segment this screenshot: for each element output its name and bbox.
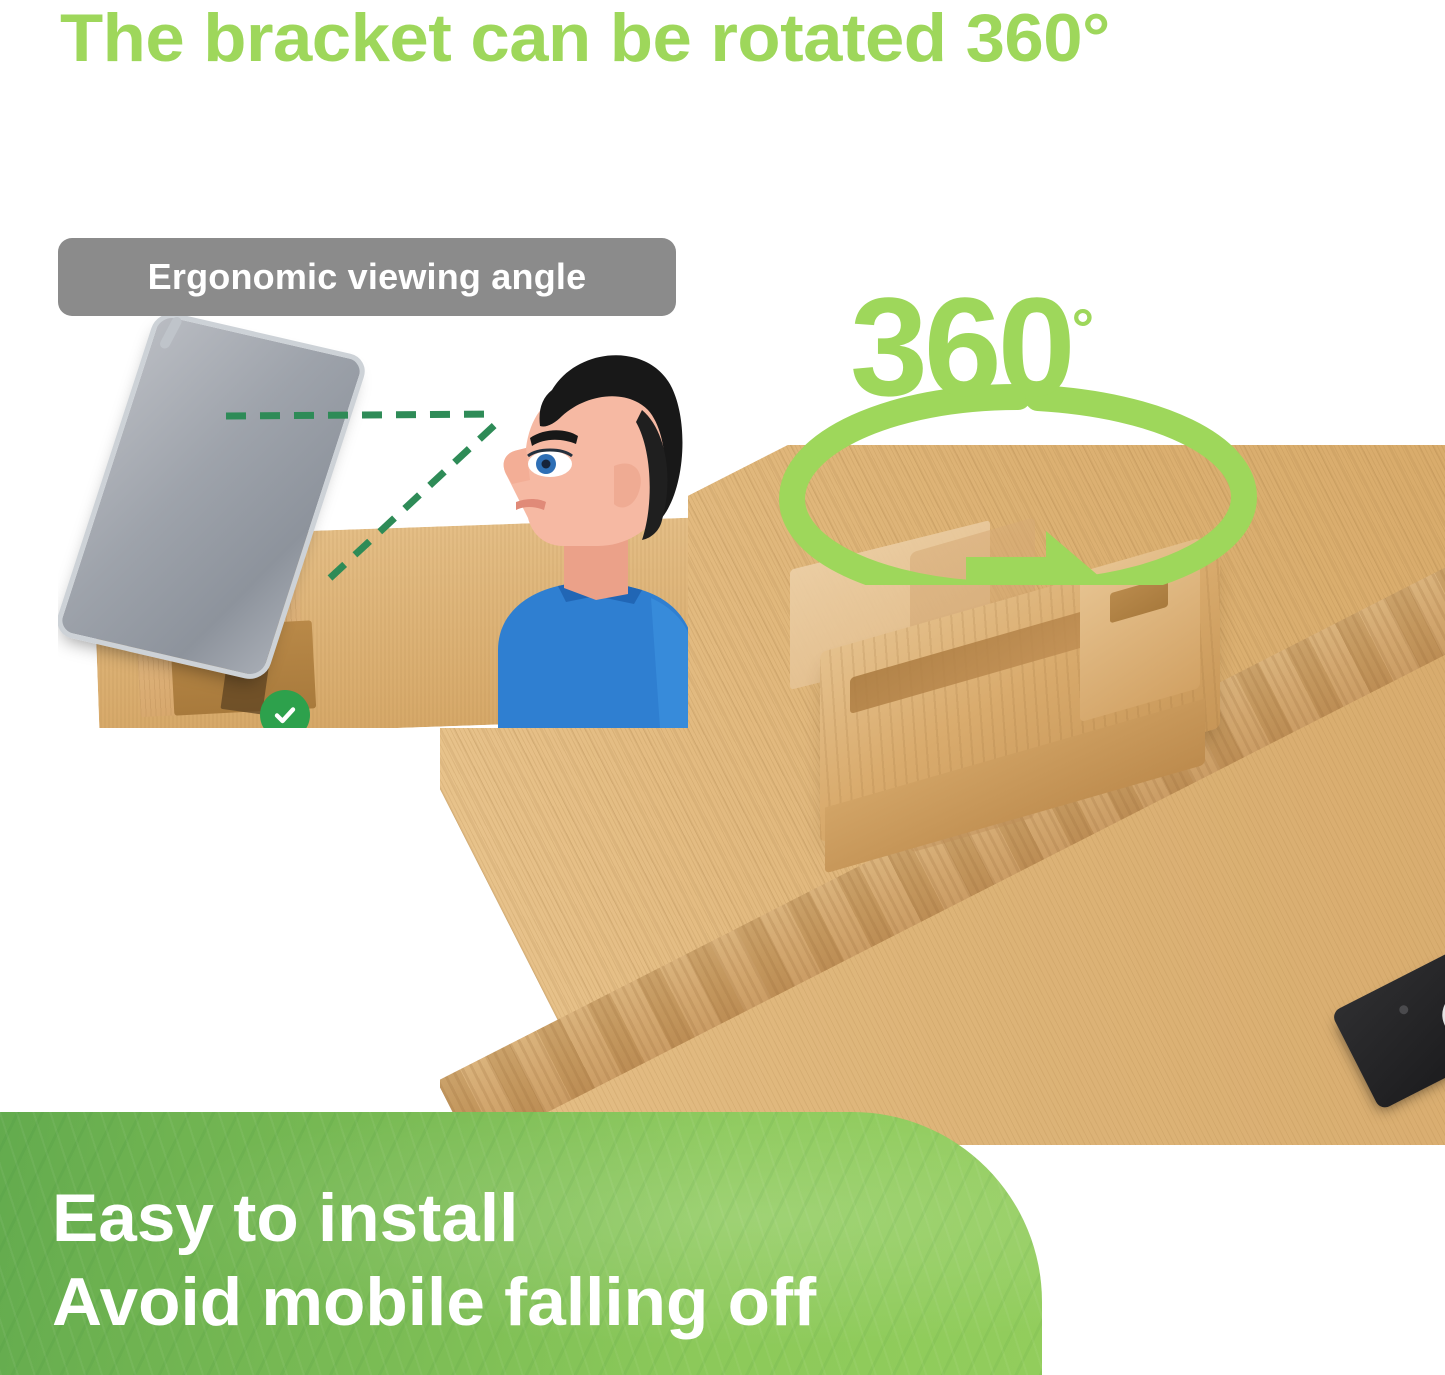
page-title: The bracket can be rotated 360° xyxy=(60,0,1445,78)
inset-banner-label: Ergonomic viewing angle xyxy=(148,256,587,298)
rotation-graphic: 360° xyxy=(770,285,1270,585)
device-led xyxy=(1398,1004,1410,1016)
device-knob xyxy=(1434,984,1445,1046)
banner-line-2: Avoid mobile falling off xyxy=(52,1268,816,1336)
rotation-degrees-label: 360° xyxy=(850,277,1094,417)
product-marketing-image: The bracket can be rotated 360° 360° xyxy=(0,0,1445,1375)
inset-banner: Ergonomic viewing angle xyxy=(58,238,676,316)
rotation-degrees-value: 360 xyxy=(850,268,1072,425)
degree-symbol: ° xyxy=(1072,296,1094,359)
banner-line-1: Easy to install xyxy=(52,1184,518,1252)
ergonomic-angle-inset: Ergonomic viewing angle xyxy=(58,238,688,728)
